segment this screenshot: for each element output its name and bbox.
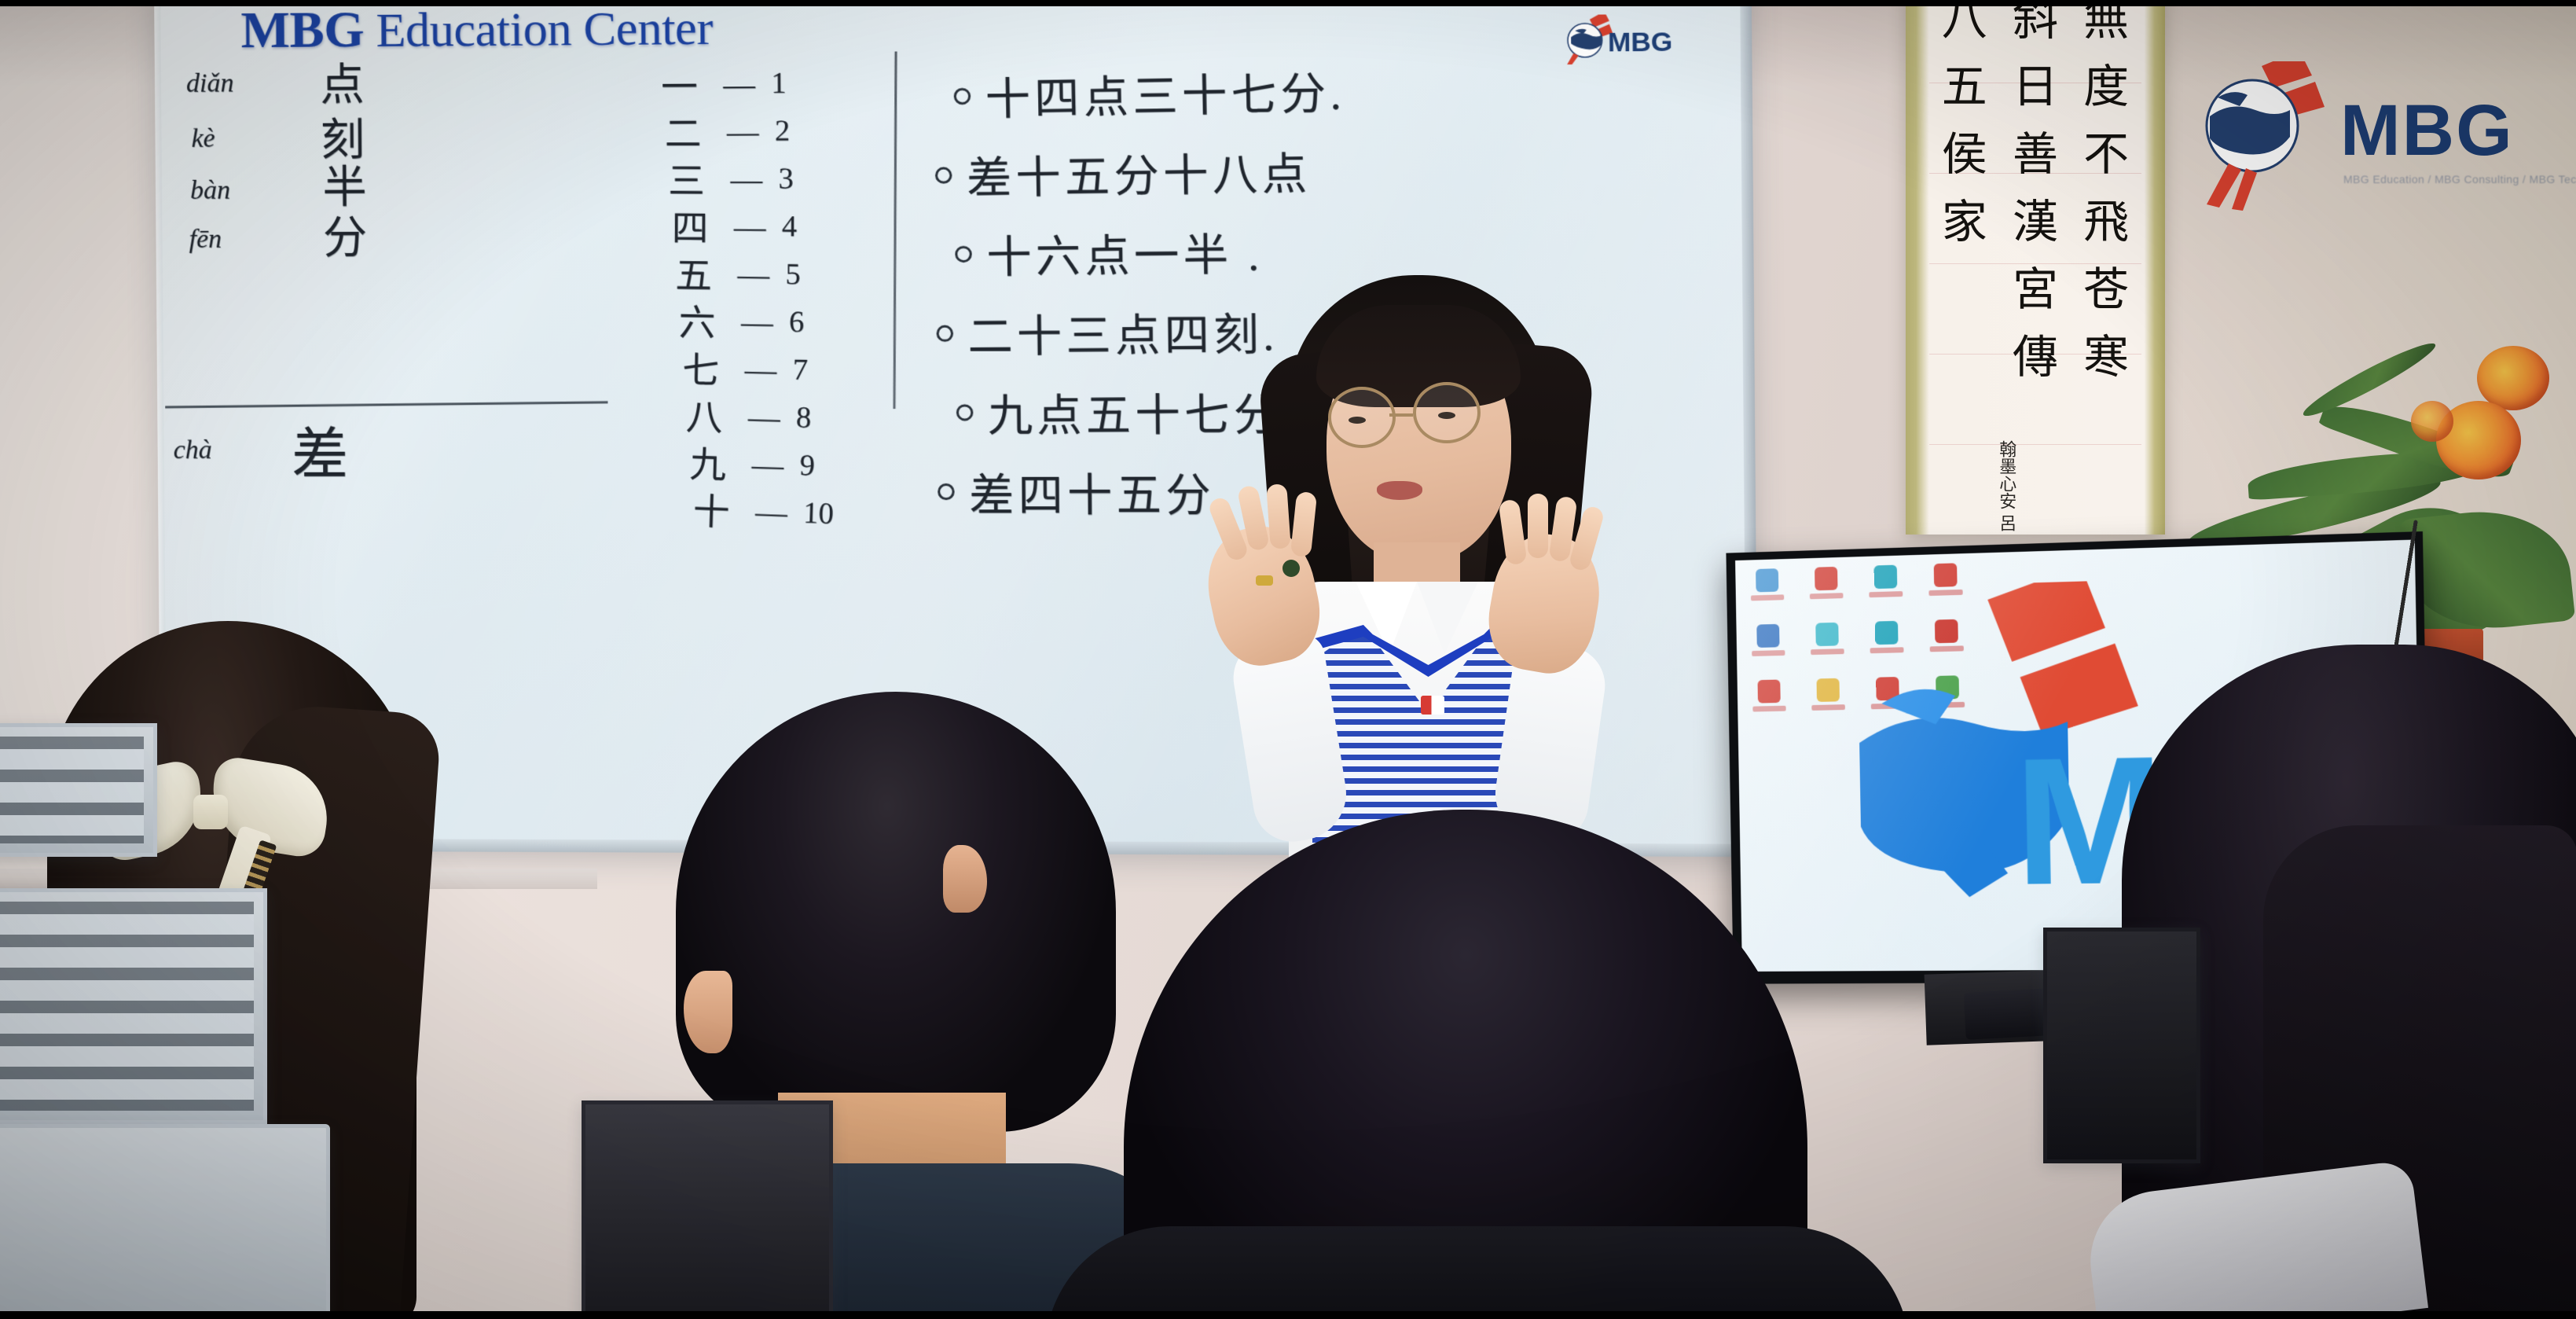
number-dash: —	[737, 255, 765, 292]
bullet-icon	[956, 404, 974, 421]
svg-text:MBG: MBG	[1608, 27, 1673, 57]
scroll-glyph: 五	[1942, 64, 1987, 110]
vocab-pinyin-0: diǎn	[186, 68, 234, 98]
chair-slats	[0, 737, 144, 843]
scroll-column: 無度不飛苍寒	[2083, 0, 2129, 539]
number-hanzi: 七	[682, 341, 725, 395]
scroll-glyph: 度	[2083, 64, 2129, 110]
chair-back-lower[interactable]	[0, 888, 267, 1124]
cha-pinyin: chà	[173, 435, 211, 465]
number-dash: —	[730, 160, 758, 197]
vocab-hanzi-3: 分	[323, 202, 368, 266]
student-head	[676, 692, 1116, 1132]
scroll-columns: 無度不飛苍寒斜日善漢宮傳八五侯家	[1929, 0, 2142, 539]
finger	[1528, 494, 1548, 558]
number-hanzi: 二	[665, 105, 706, 158]
number-hanzi: 八	[685, 388, 728, 442]
wall-logo-tagline: MBG Education / MBG Consulting / MBG Tec…	[2343, 173, 2576, 186]
sentence-row: 差四十五分	[938, 459, 1215, 524]
number-arabic: 9	[799, 448, 816, 483]
bullet-icon	[936, 325, 953, 342]
number-hanzi: 三	[668, 152, 710, 205]
number-arabic: 10	[802, 495, 834, 531]
vocab-pinyin-2: bàn	[190, 175, 230, 205]
chair-dark[interactable]	[582, 1100, 833, 1319]
number-row: 十—10	[692, 483, 835, 540]
scroll-signature: 翰墨心安 呂	[1994, 440, 2019, 531]
calligraphy-scroll: 無度不飛苍寒斜日善漢宮傳八五侯家 翰墨心安 呂	[1906, 0, 2165, 535]
whiteboard-title-rest: Education Center	[364, 2, 713, 58]
whiteboard-title: MBG Education Center	[240, 0, 713, 61]
number-hanzi: 十	[692, 483, 736, 536]
scroll-glyph: 八	[1942, 0, 1987, 42]
chair-slats	[0, 902, 254, 1111]
scroll-glyph: 苍	[2083, 267, 2129, 313]
scroll-glyph: 侯	[1942, 132, 1987, 178]
number-dash: —	[723, 64, 750, 102]
glasses-icon	[1328, 387, 1396, 448]
scroll-glyph: 傳	[2013, 335, 2058, 380]
number-arabic: 8	[796, 400, 812, 435]
student-shoulders	[1045, 1226, 1910, 1319]
number-hanzi: 四	[672, 200, 714, 252]
bullet-icon	[938, 483, 955, 500]
number-hanzi: 九	[689, 435, 732, 489]
number-hanzi: 一	[661, 57, 703, 110]
number-dash: —	[744, 350, 772, 388]
scroll-glyph: 寒	[2083, 335, 2129, 380]
bow-knot	[193, 795, 228, 829]
bullet-icon	[935, 167, 952, 184]
chair-right[interactable]	[2043, 928, 2200, 1163]
scroll-glyph: 家	[1942, 200, 1987, 245]
number-hanzi: 六	[678, 294, 721, 347]
ring-gold	[1256, 575, 1273, 586]
classroom-photo: MBG Education Center MBG diǎn	[0, 0, 2576, 1319]
number-arabic: 3	[778, 161, 793, 196]
vocab-pinyin-1: kè	[191, 124, 215, 154]
scroll-glyph: 宮	[2013, 267, 2058, 313]
number-dash: —	[741, 303, 769, 340]
scroll-column: 斜日善漢宮傳	[2013, 0, 2058, 539]
number-row: 五—5	[675, 247, 801, 301]
scroll-glyph: 善	[2013, 132, 2058, 178]
scroll-glyph: 無	[2083, 0, 2129, 42]
number-row: 三—3	[668, 152, 793, 205]
number-arabic: 5	[785, 257, 801, 292]
rose-flower	[2477, 346, 2549, 410]
sentence-text: 十四点三十七分.	[985, 57, 1346, 128]
scroll-glyph: 不	[2083, 132, 2129, 178]
number-row: 四—4	[672, 200, 798, 253]
scroll-glyph: 漢	[2013, 200, 2058, 245]
ring-jade	[1282, 560, 1300, 577]
cha-hanzi: 差	[291, 408, 348, 490]
letterbox-top	[0, 0, 2576, 6]
number-arabic: 4	[782, 209, 798, 244]
mbg-globe-icon-large	[2200, 61, 2358, 211]
vocab-block: diǎn 点 kè 刻 bàn 半 fēn 分 chà 差	[186, 55, 600, 294]
number-dash: —	[727, 112, 754, 149]
scroll-glyph: 斜	[2013, 0, 2058, 42]
wall-mbg-logo: MBG MBG Education / MBG Consulting / MBG…	[2200, 61, 2530, 211]
number-arabic: 7	[792, 352, 808, 388]
bullet-icon	[954, 88, 971, 105]
glasses-bridge	[1389, 413, 1413, 417]
number-dash: —	[754, 492, 783, 531]
number-dash: —	[751, 445, 780, 483]
vocab-pinyin-3: fēn	[189, 225, 222, 255]
number-hanzi: 五	[675, 247, 717, 299]
scroll-glyph: 日	[2013, 64, 2058, 110]
scroll-glyph: 飛	[2083, 200, 2129, 245]
rose-bud	[2411, 401, 2453, 442]
sentence-text: 差十五分十八点	[966, 138, 1312, 208]
mbg-globe-icon: MBG	[1564, 14, 1712, 65]
sentence-text: 差四十五分	[969, 459, 1215, 524]
bullet-icon	[955, 246, 972, 263]
chair-seat-front[interactable]	[0, 1124, 330, 1319]
number-arabic: 2	[775, 113, 790, 148]
number-row: 二—2	[665, 105, 791, 157]
wall-logo-brand: MBG	[2340, 90, 2514, 172]
number-arabic: 6	[789, 305, 805, 340]
chair-back-upper[interactable]	[0, 723, 157, 857]
number-row: 一—1	[661, 57, 787, 111]
sentence-row: 差十五分十八点	[934, 138, 1312, 208]
number-arabic: 1	[771, 66, 787, 101]
whiteboard-mbg-logo: MBG	[1564, 14, 1712, 65]
number-dash: —	[748, 398, 776, 435]
scroll-column: 八五侯家	[1942, 0, 1987, 539]
teacher-mouth	[1377, 481, 1422, 500]
teacher-lapel-pin	[1421, 696, 1444, 715]
letterbox-bottom	[0, 1311, 2576, 1319]
number-dash: —	[734, 208, 761, 245]
sentence-row: 十四点三十七分.	[953, 57, 1346, 128]
glasses-icon	[1413, 382, 1481, 443]
number-row: 六—6	[678, 294, 804, 348]
